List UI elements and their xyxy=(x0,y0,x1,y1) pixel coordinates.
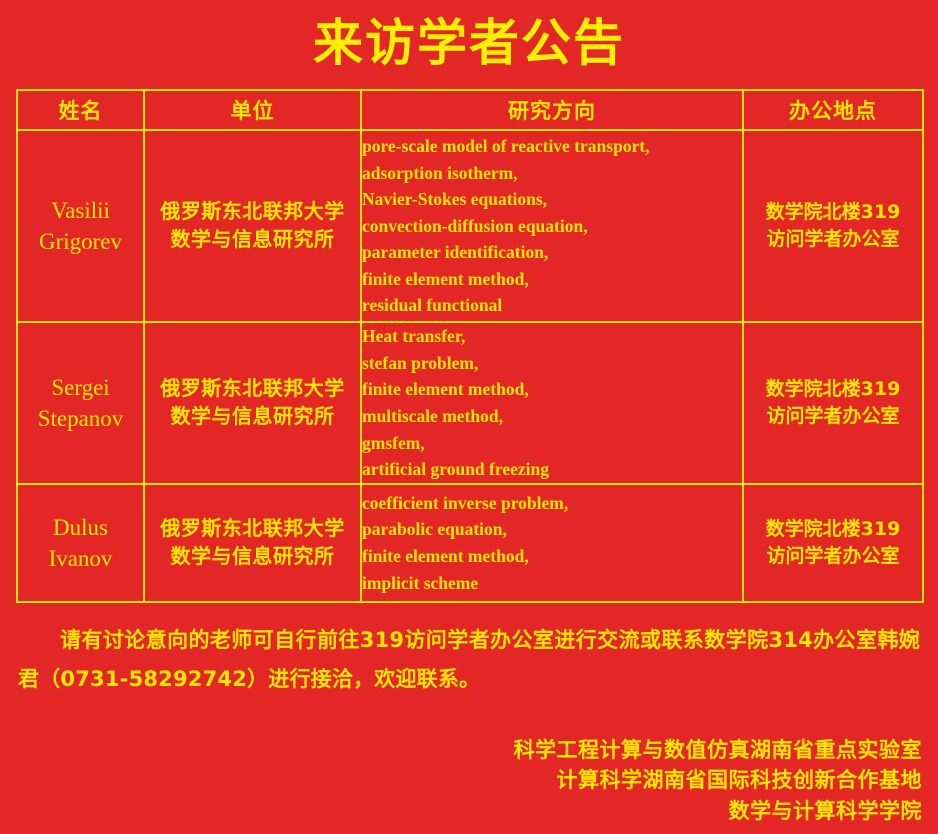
cell-office: 数学院北楼319 访问学者办公室 xyxy=(743,322,923,484)
signature-line-school: 数学与计算科学学院 xyxy=(514,796,923,826)
table-row: DulusIvanov 俄罗斯东北联邦大学数学与信息研究所 coefficien… xyxy=(17,484,923,602)
cell-name: VasiliiGrigorev xyxy=(17,130,144,322)
signature-line-lab: 科学工程计算与数值仿真湖南省重点实验室 xyxy=(514,735,923,765)
cell-research: Heat transfer, stefan problem, finite el… xyxy=(361,322,743,484)
visiting-scholars-table: 姓名 单位 研究方向 办公地点 VasiliiGrigorev 俄罗斯东北联邦大… xyxy=(16,89,924,603)
cell-office: 数学院北楼319 访问学者办公室 xyxy=(743,130,923,322)
page-title: 来访学者公告 xyxy=(0,0,938,68)
cell-unit: 俄罗斯东北联邦大学数学与信息研究所 xyxy=(144,130,361,322)
column-header-research: 研究方向 xyxy=(361,90,743,130)
signature-line-base: 计算科学湖南省国际科技创新合作基地 xyxy=(514,765,923,795)
cell-unit: 俄罗斯东北联邦大学数学与信息研究所 xyxy=(144,484,361,602)
notice-poster: 来访学者公告 姓名 单位 研究方向 办公地点 VasiliiGrigorev 俄… xyxy=(0,0,938,834)
cell-office: 数学院北楼319 访问学者办公室 xyxy=(743,484,923,602)
cell-research: pore-scale model of reactive transport, … xyxy=(361,130,743,322)
column-header-unit: 单位 xyxy=(144,90,361,130)
table-header-row: 姓名 单位 研究方向 办公地点 xyxy=(17,90,923,130)
contact-note: 请有讨论意向的老师可自行前往319访问学者办公室进行交流或联系数学院314办公室… xyxy=(18,621,920,699)
visiting-scholars-table-wrapper: 姓名 单位 研究方向 办公地点 VasiliiGrigorev 俄罗斯东北联邦大… xyxy=(16,89,922,603)
table-header: 姓名 单位 研究方向 办公地点 xyxy=(17,90,923,130)
cell-unit: 俄罗斯东北联邦大学数学与信息研究所 xyxy=(144,322,361,484)
table-row: SergeiStepanov 俄罗斯东北联邦大学数学与信息研究所 Heat tr… xyxy=(17,322,923,484)
table-body: VasiliiGrigorev 俄罗斯东北联邦大学数学与信息研究所 pore-s… xyxy=(17,130,923,602)
cell-name: SergeiStepanov xyxy=(17,322,144,484)
table-row: VasiliiGrigorev 俄罗斯东北联邦大学数学与信息研究所 pore-s… xyxy=(17,130,923,322)
cell-name: DulusIvanov xyxy=(17,484,144,602)
column-header-name: 姓名 xyxy=(17,90,144,130)
signature-block: 科学工程计算与数值仿真湖南省重点实验室 计算科学湖南省国际科技创新合作基地 数学… xyxy=(514,735,923,826)
column-header-office: 办公地点 xyxy=(743,90,923,130)
cell-research: coefficient inverse problem, parabolic e… xyxy=(361,484,743,602)
